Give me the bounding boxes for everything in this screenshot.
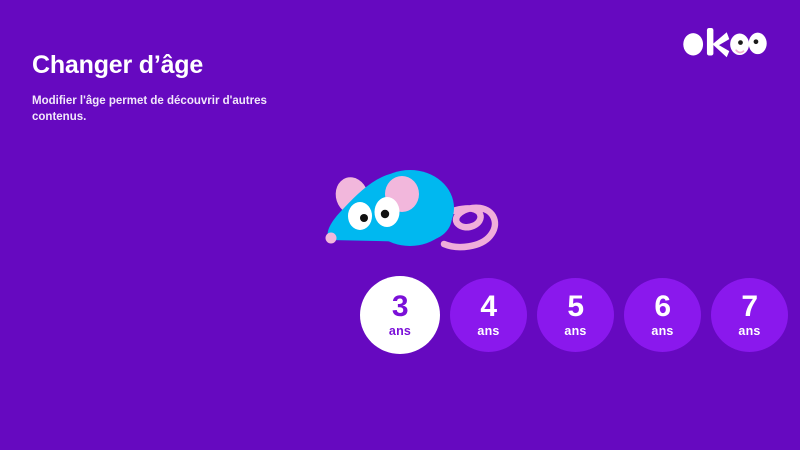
age-option-3[interactable]: 3 ans [360, 276, 440, 354]
age-option-number: 7 [741, 292, 757, 322]
header-text-block: Changer d’âge Modifier l'âge permet de d… [32, 52, 362, 125]
age-option-5[interactable]: 5 ans [537, 278, 614, 352]
mouse-eye-left [348, 202, 372, 230]
age-option-number: 3 [392, 292, 408, 322]
logo-letter-k [707, 28, 729, 57]
age-option-unit: ans [389, 325, 411, 338]
page-subtitle: Modifier l'âge permet de découvrir d'aut… [32, 93, 272, 126]
age-selector: 3 ans 4 ans 5 ans 6 ans 7 ans [360, 276, 788, 354]
age-option-unit: ans [651, 325, 673, 338]
logo-letter-o-eye-right [749, 33, 767, 55]
age-option-4[interactable]: 4 ans [450, 278, 527, 352]
age-option-number: 6 [654, 292, 670, 322]
age-selection-screen: Changer d’âge Modifier l'âge permet de d… [0, 0, 800, 450]
age-option-7[interactable]: 7 ans [711, 278, 788, 352]
age-option-unit: ans [477, 325, 499, 338]
age-option-unit: ans [564, 325, 586, 338]
age-option-number: 4 [480, 292, 496, 322]
logo-letter-o-eye-left [730, 34, 749, 56]
age-option-unit: ans [738, 325, 760, 338]
page-title: Changer d’âge [32, 52, 362, 80]
logo-letter-o-first [683, 33, 703, 55]
mouse-mascot [318, 152, 508, 262]
mouse-nose [326, 233, 337, 244]
age-option-6[interactable]: 6 ans [624, 278, 701, 352]
mouse-eye-right [375, 197, 400, 227]
okoo-logo[interactable] [682, 26, 768, 60]
age-option-number: 5 [567, 292, 583, 322]
